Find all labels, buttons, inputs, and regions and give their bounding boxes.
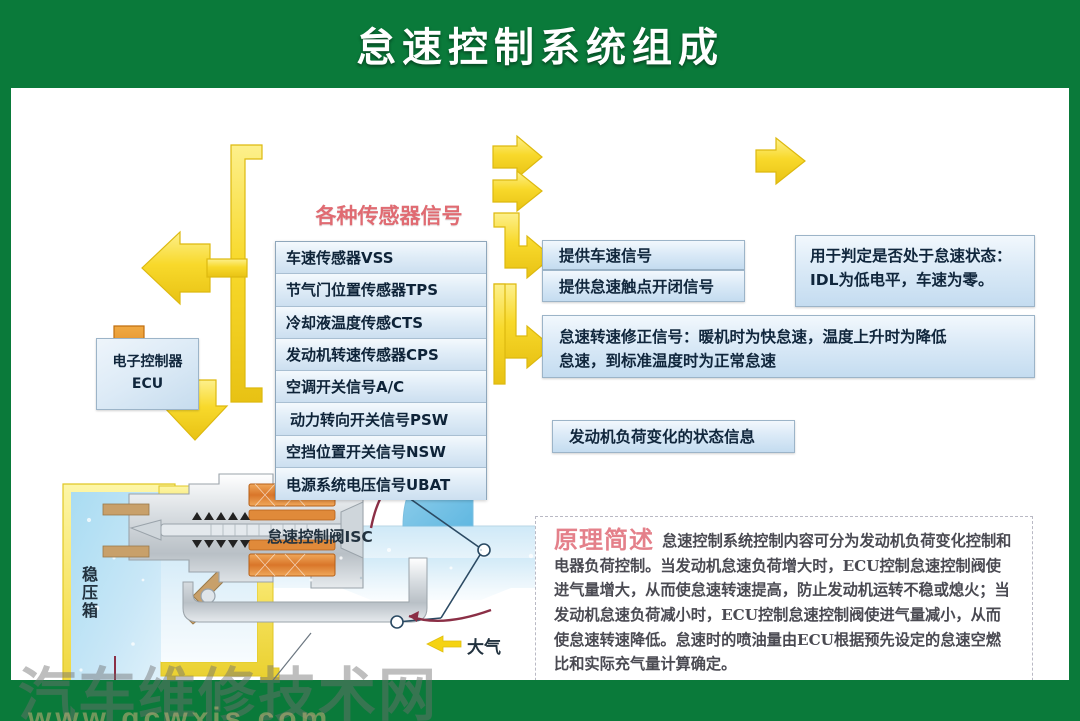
vehicle-speed-signal-box[interactable]: 提供车速信号 xyxy=(542,240,745,270)
sensor-item-cts[interactable]: 冷却液温度传感CTS xyxy=(276,307,486,339)
idle-state-line1: 用于判定是否处于怠速状态： xyxy=(810,244,1034,268)
ecu-label-line2: ECU xyxy=(132,374,163,396)
ecu-box[interactable]: 电子控制器 ECU xyxy=(96,338,199,410)
principle-title: 原理简述 xyxy=(554,528,654,553)
sensor-item-psw[interactable]: 动力转向开关信号PSW xyxy=(276,403,486,435)
bottom-frame xyxy=(0,680,1080,721)
idle-state-line2: IDL为低电平，车速为零。 xyxy=(810,268,1034,292)
page-title: 怠速控制系统组成 xyxy=(356,15,724,73)
sensor-item-nsw[interactable]: 空挡位置开关信号NSW xyxy=(276,436,486,468)
label-surge-tank: 稳压箱 xyxy=(81,566,99,620)
sensor-item-ubat[interactable]: 电源系统电压信号UBAT xyxy=(276,468,486,500)
engine-load-info-label: 发动机负荷变化的状态信息 xyxy=(553,421,794,454)
rpm-correction-line2: 怠速，到标准温度时为正常怠速 xyxy=(559,349,1034,373)
label-isc-valve: 怠速控制阀ISC xyxy=(267,525,373,547)
principle-text: 怠速控制系统控制内容可分为发动机负荷变化控制和电器负荷控制。当发动机怠速负荷增大… xyxy=(554,532,1011,673)
sensor-signal-list: 车速传感器VSS 节气门位置传感器TPS 冷却液温度传感CTS 发动机转速传感器… xyxy=(275,241,487,500)
sensor-item-cps[interactable]: 发动机转速传感器CPS xyxy=(276,339,486,371)
idle-state-judgement-box[interactable]: 用于判定是否处于怠速状态： IDL为低电平，车速为零。 xyxy=(795,235,1035,307)
label-atmosphere: 大气 xyxy=(467,633,501,658)
sensor-item-vss[interactable]: 车速传感器VSS xyxy=(276,242,486,274)
title-bar: 怠速控制系统组成 xyxy=(0,0,1080,88)
ecu-label-line1: 电子控制器 xyxy=(113,352,183,374)
principle-summary-box: 原理简述 怠速控制系统控制内容可分为发动机负荷变化控制和电器负荷控制。当发动机怠… xyxy=(535,516,1033,680)
rpm-correction-line1: 怠速转速修正信号：暖机时为快怠速，温度上升时为降低 xyxy=(559,325,1034,349)
idle-contact-signal-label: 提供怠速触点开闭信号 xyxy=(543,271,744,303)
engine-load-info-box[interactable]: 发动机负荷变化的状态信息 xyxy=(552,420,795,453)
rpm-correction-box[interactable]: 怠速转速修正信号：暖机时为快怠速，温度上升时为降低 怠速，到标准温度时为正常怠速 xyxy=(542,315,1035,378)
sensor-item-ac[interactable]: 空调开关信号A/C xyxy=(276,371,486,403)
sensors-heading: 各种传感器信号 xyxy=(299,200,479,230)
sensor-item-tps[interactable]: 节气门位置传感器TPS xyxy=(276,274,486,306)
vehicle-speed-signal-label: 提供车速信号 xyxy=(543,241,744,271)
idle-contact-signal-box[interactable]: 提供怠速触点开闭信号 xyxy=(542,270,745,302)
poster-root: 怠速控制系统组成 xyxy=(0,0,1080,721)
diagram-canvas: 各种传感器信号 车速传感器VSS 节气门位置传感器TPS 冷却液温度传感CTS … xyxy=(11,88,1069,680)
